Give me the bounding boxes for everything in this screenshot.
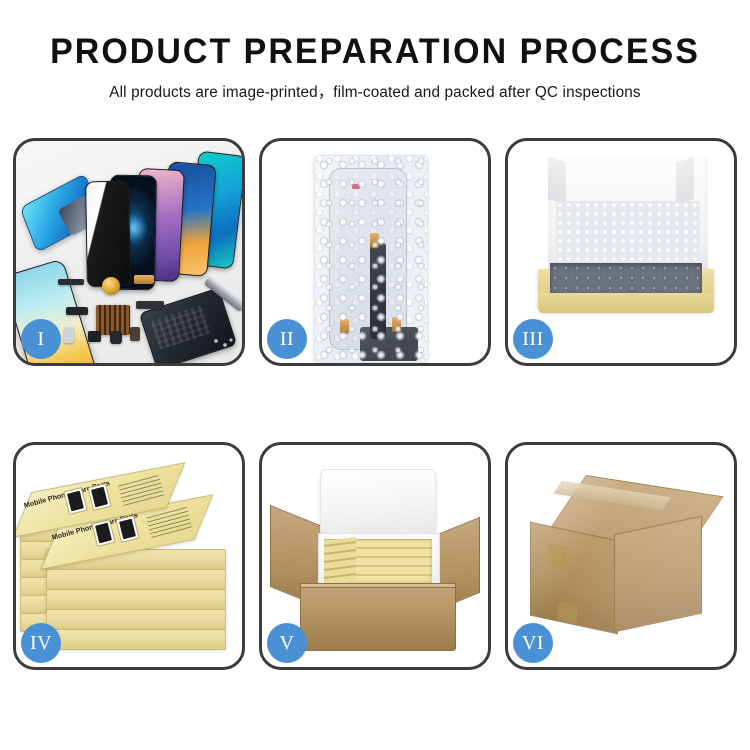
step-panel-6: VI [505,442,737,670]
gold-flex-icon [134,275,154,284]
step-panel-4: Mobile Phone Spare Parts Mobile Phone Sp… [13,442,245,670]
carton-tape-tab-icon [558,601,577,624]
phone-front-glass-icon [85,181,131,288]
box-flap-right-icon [676,157,694,205]
stacked-box [46,609,226,630]
camera-module-icon [110,331,122,344]
flex-cable-icon [58,279,84,285]
step-badge-4: IV [21,623,61,663]
stacked-box [46,629,226,650]
small-part-icon [88,331,101,342]
step-badge-3: III [513,319,553,359]
step-panel-3: III [505,138,737,366]
foam-lid-icon [320,469,436,539]
carton-right-face-icon [614,516,702,633]
carton-tape-tab-icon [548,543,567,569]
process-steps-grid: I II [13,138,737,670]
small-part-icon [130,327,140,341]
step-badge-5: V [267,623,307,663]
speaker-component-icon [102,277,120,295]
packed-yellow-boxes-icon [324,537,356,585]
page-title: PRODUCT PREPARATION PROCESS [11,34,739,71]
step-panel-5: V [259,442,491,670]
sim-tray-icon [64,327,74,343]
box-flap-left-icon [548,157,566,205]
page-header: PRODUCT PREPARATION PROCESS All products… [0,0,750,102]
box-front-edge-icon [538,293,714,313]
step-panel-1: I [13,138,245,366]
small-part-icon [136,301,164,309]
step-panel-2: II [259,138,491,366]
packed-parts-icon [550,263,702,293]
step-badge-1: I [21,319,61,359]
step-badge-2: II [267,319,307,359]
bubble-texture [315,156,427,362]
screws-icon [212,337,234,349]
page-subtitle: All products are image-printed，film-coat… [0,80,750,102]
bubble-wrap-bag-icon [314,155,428,363]
stacked-box [46,569,226,590]
stacked-box [46,589,226,610]
carton-front-icon [300,587,456,651]
small-part-icon [66,307,88,315]
step-badge-6: VI [513,623,553,663]
